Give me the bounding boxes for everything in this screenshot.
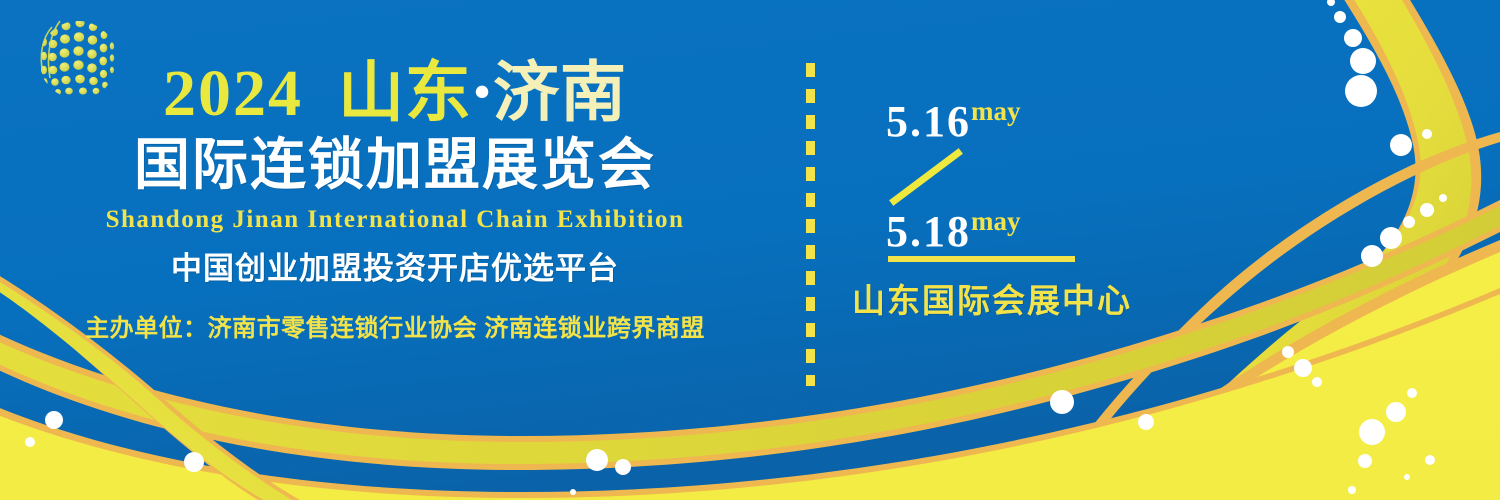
date-underline-rule — [888, 256, 1075, 262]
title-block: 2024 山东•济南 国际连锁加盟展览会 Shandong Jinan Inte… — [0, 55, 790, 343]
end-date-month: may — [971, 206, 1021, 236]
title-city: 济南 — [493, 57, 627, 130]
start-date-row: 5.16may — [838, 96, 1158, 144]
start-date-month: may — [971, 96, 1021, 126]
title-province: 山东 — [338, 57, 472, 130]
end-date-row: 5.18may — [838, 206, 1158, 254]
dashed-divider — [806, 63, 815, 386]
tagline: 中国创业加盟投资开店优选平台 — [0, 251, 790, 287]
date-range-slash-icon — [890, 149, 962, 205]
date-block: 5.16may 5.18may 山东国际会展中心 — [838, 96, 1158, 254]
exhibition-banner: 2024 山东•济南 国际连锁加盟展览会 Shandong Jinan Inte… — [0, 0, 1500, 500]
english-subtitle: Shandong Jinan International Chain Exhib… — [0, 205, 790, 235]
venue-name: 山东国际会展中心 — [852, 274, 1132, 322]
organizer-line: 主办单位：济南市零售连锁行业协会 济南连锁业跨界商盟 — [0, 315, 790, 343]
title-separator-dot: • — [472, 66, 493, 117]
title-year: 2024 — [163, 57, 303, 130]
main-title-line-1: 2024 山东•济南 — [0, 55, 790, 131]
end-date-number: 5.18 — [886, 207, 971, 256]
main-title-line-2: 国际连锁加盟展览会 — [0, 135, 790, 197]
start-date-number: 5.16 — [886, 97, 971, 146]
